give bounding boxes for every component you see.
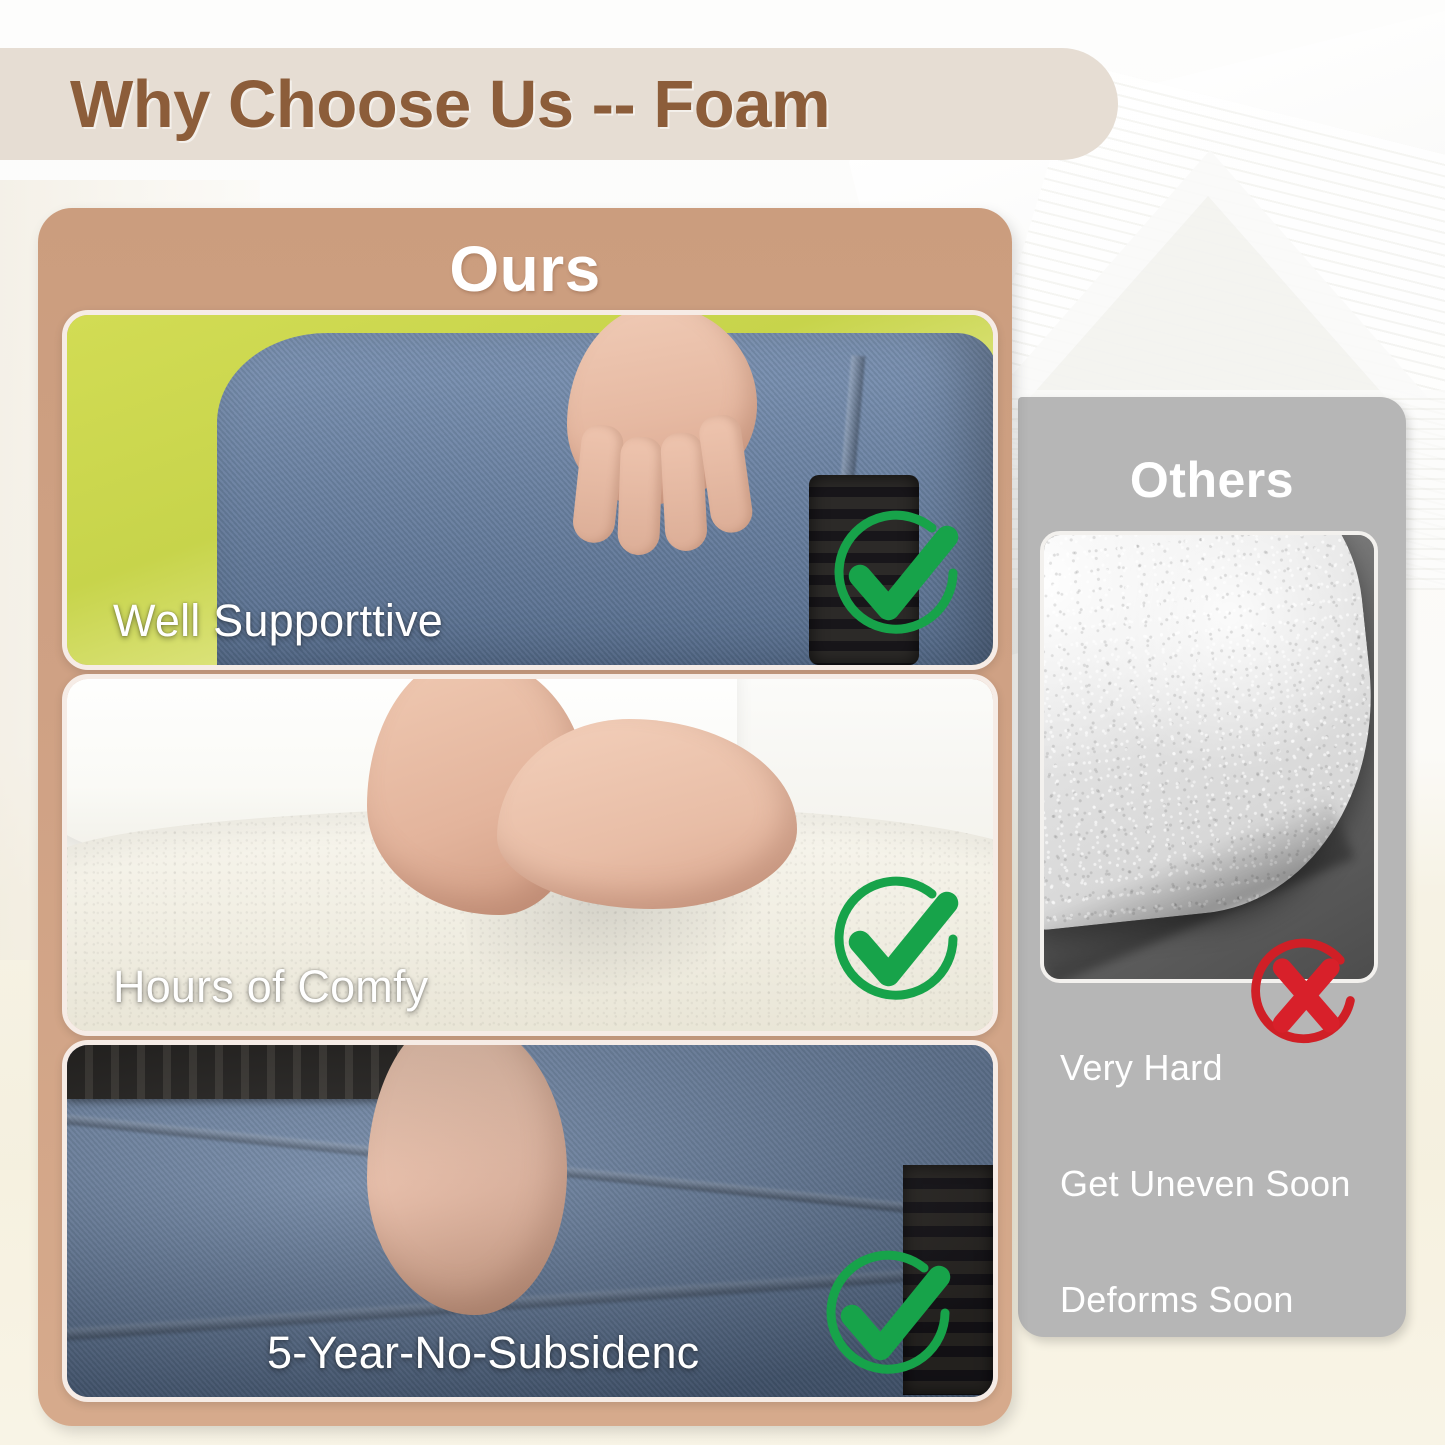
ours-feature-label: Well Supporttive	[113, 595, 443, 647]
others-panel: Others Very Hard Get Uneven Soon Deforms…	[1018, 397, 1406, 1337]
card1-finger	[617, 436, 663, 555]
ours-feature-label: Hours of Comfy	[113, 961, 428, 1013]
others-title: Others	[1018, 451, 1406, 509]
ours-feature-card: 5-Year-No-Subsidenc	[62, 1040, 998, 1402]
header-banner: Why Choose Us -- Foam	[0, 48, 1118, 160]
infographic-page: Why Choose Us -- Foam Others Very Hard G…	[0, 0, 1445, 1445]
red-cross-icon	[1242, 930, 1368, 1056]
ours-feature-card: Hours of Comfy	[62, 674, 998, 1036]
green-check-icon	[813, 1241, 963, 1391]
others-drawback-item: Very Hard	[1060, 1047, 1390, 1089]
others-drawback-item: Deforms Soon	[1060, 1279, 1390, 1321]
ours-feature-label: 5-Year-No-Subsidenc	[267, 1327, 699, 1379]
ours-title: Ours	[38, 232, 1012, 306]
background-gable-inner	[1018, 196, 1398, 411]
others-drawback-list: Very Hard Get Uneven Soon Deforms Soon	[1060, 1047, 1390, 1395]
green-check-icon	[821, 867, 971, 1017]
others-foam-photo	[1040, 531, 1378, 983]
card1-hand	[567, 310, 757, 505]
ours-panel: Ours Well Supporttive	[38, 208, 1012, 1426]
others-drawback-item: Get Uneven Soon	[1060, 1163, 1390, 1205]
page-title: Why Choose Us -- Foam	[70, 66, 830, 143]
ours-feature-card: Well Supporttive	[62, 310, 998, 670]
green-check-icon	[821, 501, 971, 651]
